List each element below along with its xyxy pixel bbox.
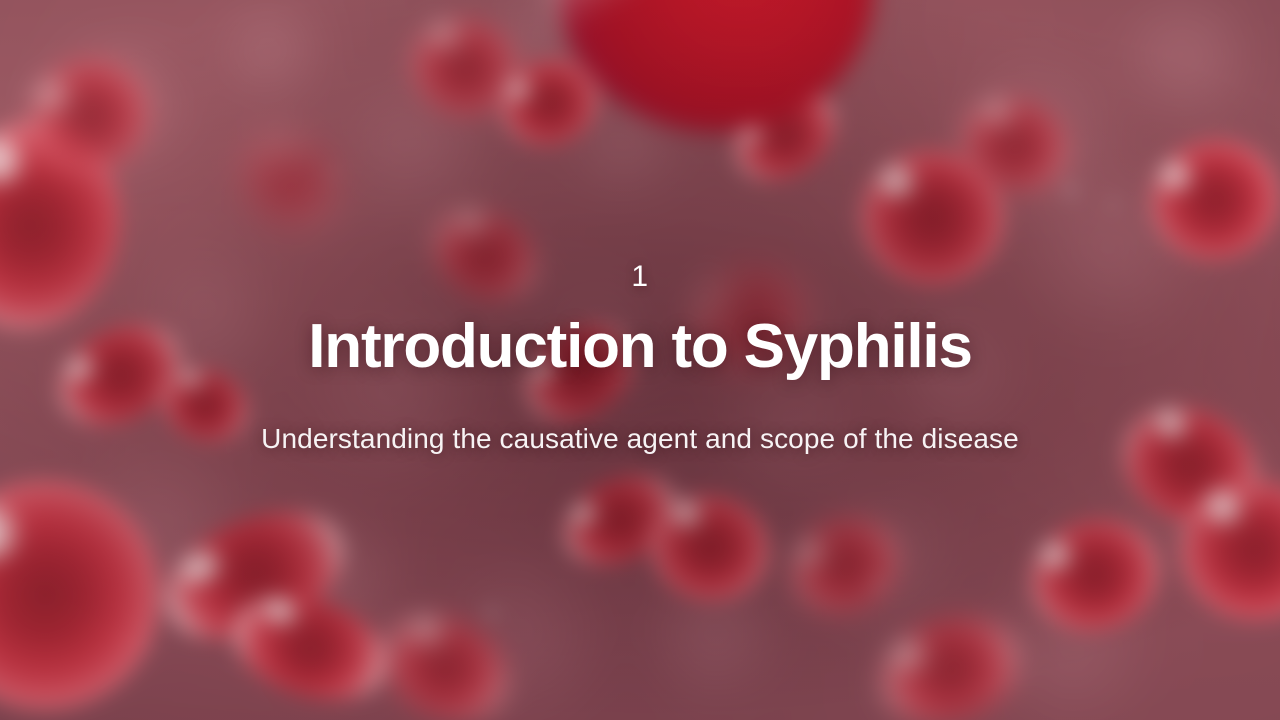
slide-title: Introduction to Syphilis <box>308 314 972 380</box>
section-number: 1 <box>631 262 648 292</box>
presentation-slide: 1 Introduction to Syphilis Understanding… <box>0 0 1280 720</box>
slide-content: 1 Introduction to Syphilis Understanding… <box>0 0 1280 720</box>
slide-subtitle: Understanding the causative agent and sc… <box>261 420 1019 459</box>
